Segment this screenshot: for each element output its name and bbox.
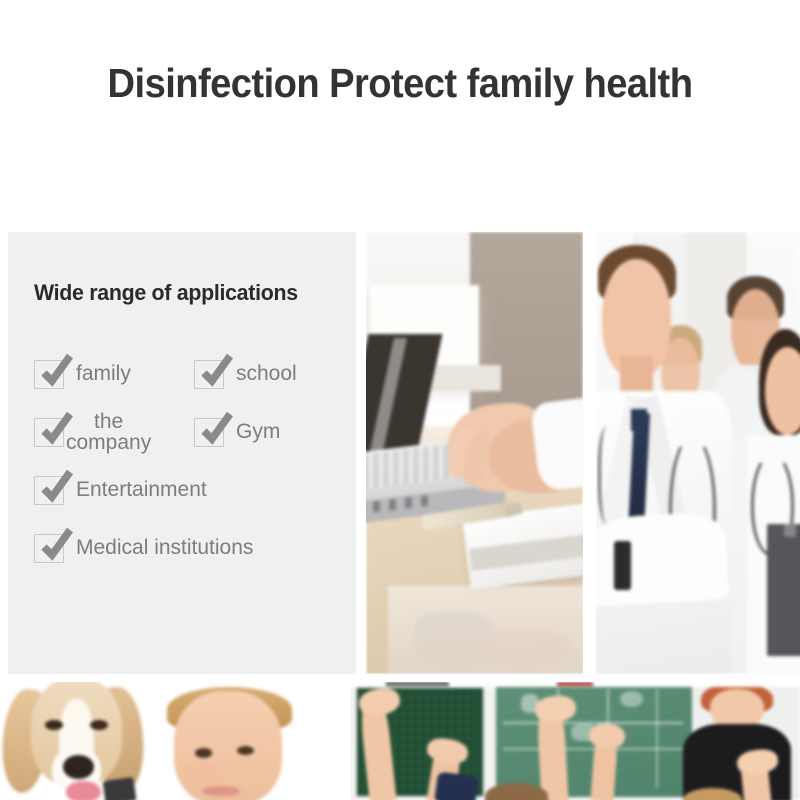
checklist-item-the-company[interactable]: the company [34,411,194,453]
checkbox-checked-icon[interactable] [34,360,64,389]
image-collage: Wide range of applications family [0,230,800,800]
checkbox-checked-icon[interactable] [194,418,224,447]
applications-checklist: family school [34,352,356,570]
checklist-label-line1: the [66,411,151,432]
checklist-label: family [76,363,131,384]
checklist-item-gym[interactable]: Gym [194,418,280,447]
checkbox-checked-icon[interactable] [34,534,64,563]
photo-office-workplace [366,232,583,674]
photo-pet-and-child [0,682,348,800]
checkbox-checked-icon[interactable] [34,418,64,447]
checklist-item-school[interactable]: school [194,360,297,389]
applications-heading: Wide range of applications [34,280,346,306]
checklist-label-line2: company [66,432,151,453]
checklist-label: school [236,363,297,384]
photo-medical-team [596,232,800,674]
checklist-item-entertainment[interactable]: Entertainment [34,476,207,505]
checklist-item-medical-institutions[interactable]: Medical institutions [34,534,253,563]
checklist-label: Medical institutions [76,537,253,558]
checklist-label: Gym [236,421,280,442]
page-title: Disinfection Protect family health [28,60,772,107]
checklist-row: family school [34,352,356,396]
photo-classroom [350,682,800,800]
checklist-row: Entertainment [34,468,356,512]
checklist-label: Entertainment [76,479,207,500]
checkbox-checked-icon[interactable] [194,360,224,389]
checklist-label: the company [66,411,151,453]
checklist-row: the company Gym [34,410,356,454]
checklist-item-family[interactable]: family [34,360,194,389]
checkbox-checked-icon[interactable] [34,476,64,505]
checklist-row: Medical institutions [34,526,356,570]
applications-panel: Wide range of applications family [8,232,356,674]
